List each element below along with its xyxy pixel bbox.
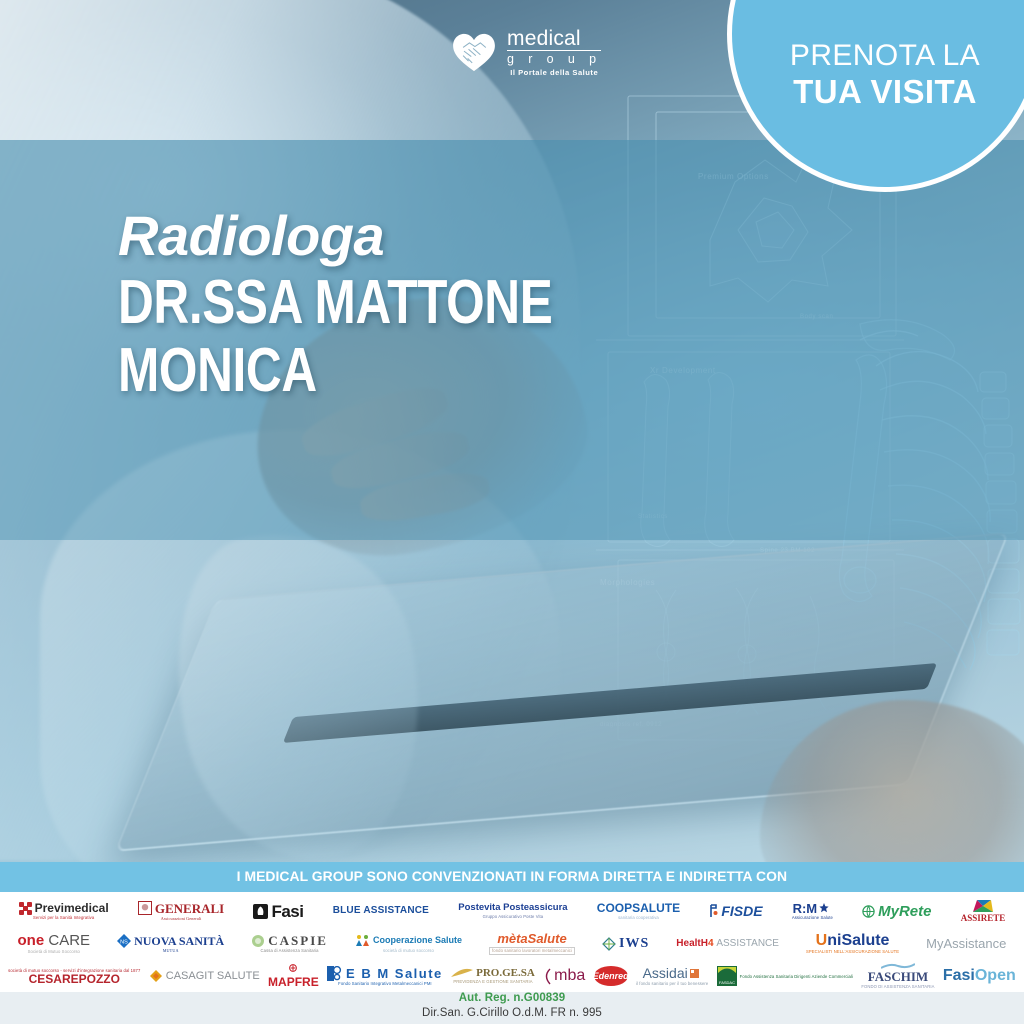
partner-sub: Fondo Assistenza Sanitaria Dirigenti Azi…: [740, 974, 853, 979]
partner-name: GENERALI: [155, 902, 224, 915]
partner-sub: FONDO DI ASSISTENZA SANITARIA: [861, 985, 934, 989]
partner-name: Cooperazione Salute: [373, 936, 462, 945]
mba-icon: [543, 968, 551, 985]
heart-handshake-icon: [452, 32, 496, 72]
partner-name: MAPFRE: [268, 976, 319, 988]
brand-tagline: Il Portale della Salute: [507, 69, 601, 77]
partner-name: Postevita Posteassicura: [458, 903, 567, 914]
partner-logo[interactable]: PrevimedicalServizi per la Sanità Integr…: [19, 902, 109, 921]
partner-sub: Servizi per la Sanità Integrativa: [33, 916, 94, 920]
partner-name: IWS: [619, 937, 649, 951]
partner-logo[interactable]: MyRete: [862, 904, 931, 919]
partner-logo[interactable]: R:MAssicurazione Salute: [792, 902, 833, 921]
partner-sub: Gruppo Assicurativo Poste Vita: [483, 915, 544, 919]
fisde-icon: [709, 904, 718, 918]
partner-sub: Assicurazioni Generali: [161, 917, 202, 921]
blue-overlay-band-lower: [0, 540, 1024, 862]
badge-line-1: PRENOTA LA: [790, 39, 980, 74]
partner-sub: Assicurazione Salute: [792, 916, 833, 920]
partner-name: Assidai: [643, 966, 688, 980]
partner-logo[interactable]: CASAGIT SALUTE: [149, 969, 260, 983]
brand-name-secondary: g r o u p: [507, 53, 601, 66]
partner-logo[interactable]: CASPIECassa di Assistenza Sanitaria: [251, 934, 328, 954]
partner-logo[interactable]: COOPSALUTEsanitaria cooperativa: [597, 902, 680, 920]
partner-logo[interactable]: Fasi: [253, 903, 303, 920]
partner-name: PRO.GE.SA: [476, 968, 535, 979]
partner-name: R:M: [793, 902, 818, 915]
partner-logos-area: PrevimedicalServizi per la Sanità Integr…: [0, 892, 1024, 992]
partner-name: FISDE: [721, 904, 762, 918]
partner-logo[interactable]: FISDE: [709, 904, 762, 918]
partner-name: MyAssistance: [926, 937, 1006, 950]
partner-logo[interactable]: FASCHIMFONDO DI ASSISTENZA SANITARIA: [861, 963, 934, 989]
partner-name: Fasi: [271, 903, 303, 920]
progesa-icon: [451, 968, 473, 979]
badge-line-2: TUA VISITA: [793, 73, 977, 111]
partner-name: NUOVA SANITÀ: [134, 935, 224, 947]
partner-logo[interactable]: GENERALIAssicurazioni Generali: [138, 901, 224, 921]
myrete-globe-icon: [862, 905, 875, 918]
partner-logo[interactable]: IWS: [602, 937, 649, 951]
partner-logo[interactable]: Assidaiil fondo sanitario per il tuo ben…: [636, 966, 708, 986]
previmedical-icon: [19, 902, 32, 915]
partner-sub: Società di Mutuo Soccorso: [28, 950, 80, 954]
mns-icon: NS: [117, 934, 131, 948]
cooperazione-icon: [355, 934, 370, 948]
partner-sub: sanitaria cooperativa: [618, 916, 659, 920]
iws-icon: [602, 937, 616, 951]
partner-name: E B M Salute: [346, 967, 443, 980]
partner-sub: Fondo Sanitario Integrativo Metalmeccani…: [338, 982, 432, 986]
partner-logo[interactable]: one CARESocietà di Mutuo Soccorso: [18, 933, 91, 954]
partners-bar-text: I MEDICAL GROUP SONO CONVENZIONATI IN FO…: [237, 869, 787, 885]
partner-logo[interactable]: FASDACFondo Assistenza Sanitaria Dirigen…: [717, 966, 853, 986]
partner-logo[interactable]: mba: [543, 968, 585, 985]
partner-logo[interactable]: UniSaluteSPECIALISTI NELL'ASSICURAZIONE …: [806, 933, 899, 955]
partner-logo[interactable]: HealtH4 ASSISTANCE: [676, 939, 779, 949]
caspie-icon: [251, 934, 265, 948]
partner-name: COOPSALUTE: [597, 902, 680, 914]
partner-logo[interactable]: PRO.GE.SAPREVIDENZA E GESTIONE SANITARIA: [451, 968, 535, 985]
partner-logo-row-2: one CARESocietà di Mutuo Soccorso NSNUOV…: [4, 928, 1020, 960]
medical-director: Dir.San. G.Cirillo O.d.M. FR n. 995: [0, 1007, 1024, 1019]
doctor-name-line-1: DR.SSA MATTONE: [118, 274, 552, 332]
partner-logo[interactable]: Cooperazione Salutesocietà di mutuo socc…: [355, 934, 462, 954]
partner-sub: SPECIALISTI NELL'ASSICURAZIONE SALUTE: [806, 950, 899, 954]
ebm-icon: [327, 966, 343, 981]
partner-sub: fondo sanitario lavoratori metalmeccanic…: [489, 947, 575, 955]
partner-name: CASPIE: [268, 934, 328, 947]
partner-name: MyRete: [878, 904, 931, 919]
partner-logo[interactable]: MAPFRE: [268, 964, 319, 988]
authorization-number: Aut. Reg. n.G00839: [0, 992, 1024, 1004]
svg-text:FASDAC: FASDAC: [719, 980, 735, 985]
generali-lion-icon: [138, 901, 152, 915]
partner-sub: PREVIDENZA E GESTIONE SANITARIA: [453, 980, 532, 984]
partner-sub: Cassa di Assistenza Sanitaria: [261, 949, 319, 953]
partner-logo[interactable]: Edenred: [594, 966, 628, 986]
fasi-icon: [253, 904, 268, 919]
fasdac-icon: FASDAC: [717, 966, 737, 986]
rbm-star-icon: [819, 903, 829, 913]
partner-sub: il fondo sanitario per il tuo benessere: [636, 982, 708, 986]
specialty-label: Radiologa: [118, 208, 661, 264]
partner-logo[interactable]: MyAssistance: [926, 937, 1006, 950]
svg-text:NS: NS: [120, 939, 128, 945]
partner-logo[interactable]: società di mutuo soccorso - servizi d'in…: [8, 967, 140, 985]
partner-logo-row-3: società di mutuo soccorso - servizi d'in…: [4, 960, 1020, 992]
poster-canvas: Premium Options Body scan Xr Development…: [0, 0, 1024, 1024]
partner-name: CESAREPOZZO: [29, 973, 120, 985]
partners-bar: I MEDICAL GROUP SONO CONVENZIONATI IN FO…: [0, 862, 1024, 892]
partner-logo[interactable]: mètaSalutefondo sanitario lavoratori met…: [489, 932, 575, 955]
partner-name: mba: [554, 968, 585, 984]
partner-logo[interactable]: FasiOpen: [943, 968, 1016, 984]
assirete-fan-icon: [971, 899, 995, 914]
headline-block: Radiologa DR.SSA MATTONE MONICA: [118, 208, 661, 401]
assidai-mark-icon: [690, 969, 699, 978]
partner-name: FASCHIM: [868, 970, 928, 983]
partner-sub: MUTUA: [163, 949, 179, 953]
partner-name: BLUE ASSISTANCE: [333, 906, 429, 916]
legal-footnote: Aut. Reg. n.G00839 Dir.San. G.Cirillo O.…: [0, 992, 1024, 1019]
partner-name: mètaSalute: [497, 932, 566, 945]
doctor-name-line-2: MONICA: [118, 342, 552, 400]
partner-logo[interactable]: NSNUOVA SANITÀMUTUA: [117, 934, 224, 954]
partner-logo-row-1: PrevimedicalServizi per la Sanità Integr…: [4, 895, 1020, 927]
partner-logo[interactable]: BLUE ASSISTANCE: [333, 906, 429, 916]
partner-name: ASSIRETE: [961, 914, 1006, 923]
partner-name: Previmedical: [35, 902, 109, 914]
brand-logo[interactable]: medical g r o u p Il Portale della Salut…: [452, 28, 601, 76]
partner-logo[interactable]: ASSIRETE: [961, 899, 1006, 923]
partner-name: CASAGIT SALUTE: [166, 970, 260, 982]
partner-logo[interactable]: E B M SaluteFondo Sanitario Integrativo …: [327, 966, 443, 987]
brand-name-primary: medical: [507, 28, 601, 51]
partner-sub: società di mutuo soccorso: [383, 949, 434, 953]
brand-wordmark: medical g r o u p Il Portale della Salut…: [507, 28, 601, 76]
casagit-icon: [149, 969, 163, 983]
partner-name: Edenred: [593, 972, 629, 981]
partner-logo[interactable]: Postevita PosteassicuraGruppo Assicurati…: [458, 903, 567, 920]
